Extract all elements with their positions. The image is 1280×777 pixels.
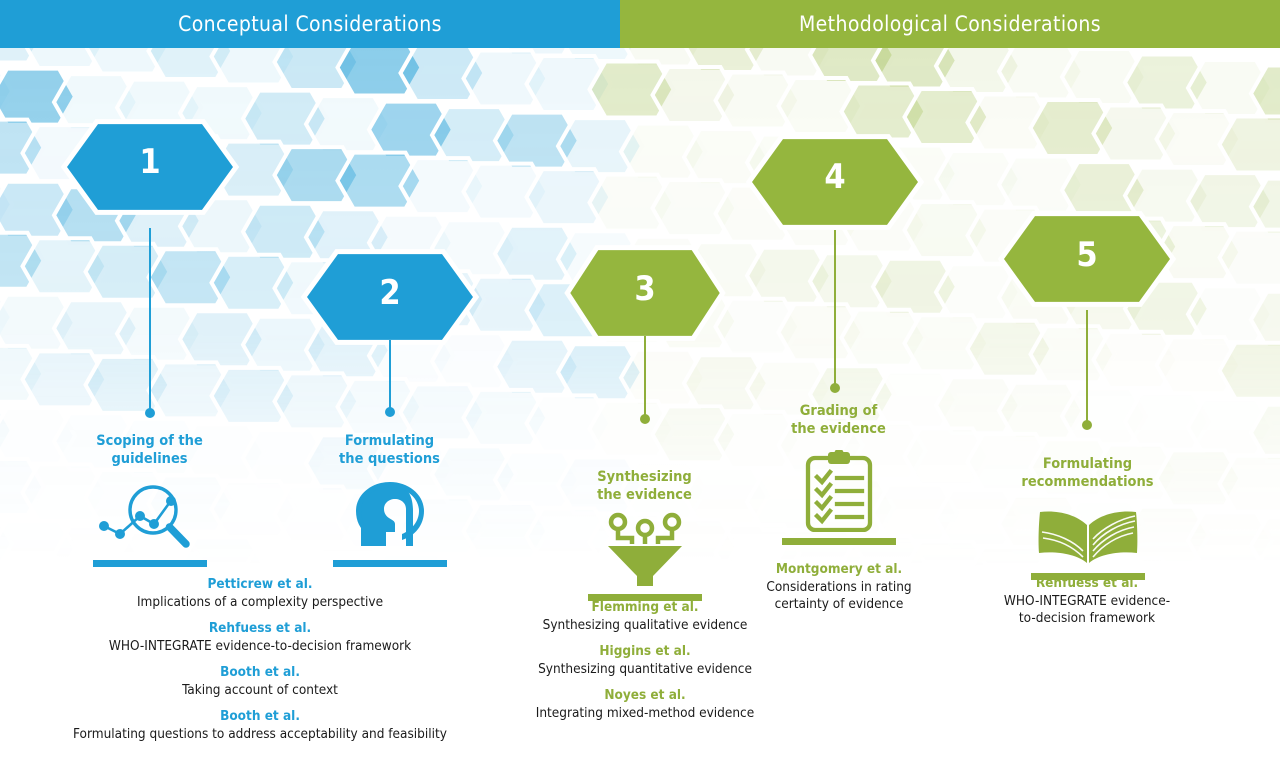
ref-title: Taking account of context xyxy=(0,682,520,700)
hexagon-step-4[interactable] xyxy=(749,137,921,228)
ref-author: Booth et al. xyxy=(0,664,520,682)
infographic-canvas: Conceptual Considerations Methodological… xyxy=(0,0,1280,777)
header-conceptual: Conceptual Considerations xyxy=(0,0,620,48)
ref-author: Rehfuess et al. xyxy=(0,620,520,638)
hexagon-step-3[interactable] xyxy=(567,248,722,339)
connector-stem-5 xyxy=(1086,310,1088,425)
ref-item: Rehfuess et al. WHO-INTEGRATE evidence- … xyxy=(988,575,1186,628)
connector-dot-3 xyxy=(640,414,650,424)
connector-stem-2 xyxy=(389,340,391,412)
ref-title: Considerations in rating certainty of ev… xyxy=(740,579,938,614)
step-recommendations-title: Formulating recommendations xyxy=(995,455,1180,491)
open-book-icon xyxy=(1033,509,1143,565)
ref-item: Booth et al. Formulating questions to ad… xyxy=(0,708,520,743)
hexagon-shape xyxy=(304,252,476,343)
step-recommendations-icon-wrap xyxy=(995,503,1180,565)
step-grading-rule xyxy=(782,538,896,545)
hexagon-shape xyxy=(749,137,921,228)
step-synthesizing-title: Synthesizing the evidence xyxy=(552,468,737,504)
step-synthesizing-icon-wrap xyxy=(552,512,737,588)
header-methodological-label: Methodological Considerations xyxy=(799,12,1101,36)
step-grading-icon-wrap xyxy=(746,448,931,532)
refs-grading: Montgomery et al. Considerations in rati… xyxy=(740,561,938,623)
ref-author: Rehfuess et al. xyxy=(988,575,1186,593)
hexagon-shape xyxy=(1001,214,1173,305)
connector-dot-1 xyxy=(145,408,155,418)
ref-author: Higgins et al. xyxy=(500,643,790,661)
ref-title: WHO-INTEGRATE evidence-to-decision frame… xyxy=(0,638,520,656)
header-conceptual-label: Conceptual Considerations xyxy=(178,12,442,36)
connector-dot-2 xyxy=(385,407,395,417)
refs-recommendations: Rehfuess et al. WHO-INTEGRATE evidence- … xyxy=(988,575,1186,637)
step-scoping-title: Scoping of the guidelines xyxy=(57,432,242,468)
ref-author: Noyes et al. xyxy=(500,687,790,705)
connector-stem-1 xyxy=(149,228,151,413)
step-grading: Grading of the evidence xyxy=(746,402,931,545)
connector-dot-4 xyxy=(830,383,840,393)
ref-title: Integrating mixed-method evidence xyxy=(500,705,790,723)
hexagon-step-1[interactable] xyxy=(64,122,236,213)
step-recommendations: Formulating recommendations xyxy=(995,455,1180,580)
connector-stem-3 xyxy=(644,336,646,418)
step-scoping-rule xyxy=(93,560,207,567)
step-synthesizing: Synthesizing the evidence xyxy=(552,468,737,601)
step-formulating-questions-icon-wrap xyxy=(297,478,482,550)
step-formulating-questions-title: Formulating the questions xyxy=(297,432,482,468)
ref-author: Booth et al. xyxy=(0,708,520,726)
step-formulating-questions-rule xyxy=(333,560,447,567)
head-question-icon xyxy=(346,480,434,550)
header-methodological: Methodological Considerations xyxy=(620,0,1280,48)
step-scoping-icon-wrap xyxy=(57,478,242,550)
hexagon-step-2[interactable] xyxy=(304,252,476,343)
honeycomb-cell xyxy=(1220,230,1280,286)
connector-dot-5 xyxy=(1082,420,1092,430)
step-scoping: Scoping of the guidelines xyxy=(57,432,242,567)
hexagon-shape xyxy=(567,248,722,339)
ref-author: Petticrew et al. xyxy=(0,576,520,594)
ref-author: Montgomery et al. xyxy=(740,561,938,579)
clipboard-checklist-icon xyxy=(804,450,874,532)
ref-item: Montgomery et al. Considerations in rati… xyxy=(740,561,938,614)
ref-title: Formulating questions to address accepta… xyxy=(0,726,520,744)
funnel-icon xyxy=(602,512,688,588)
step-formulating-questions: Formulating the questions xyxy=(297,432,482,567)
ref-item: Higgins et al. Synthesizing quantitative… xyxy=(500,643,790,678)
honeycomb-cell xyxy=(1220,117,1280,173)
ref-item: Booth et al. Taking account of context xyxy=(0,664,520,699)
hexagon-step-5[interactable] xyxy=(1001,214,1173,305)
ref-item: Noyes et al. Integrating mixed-method ev… xyxy=(500,687,790,722)
header-bar: Conceptual Considerations Methodological… xyxy=(0,0,1280,48)
ref-title: Implications of a complexity perspective xyxy=(0,594,520,612)
ref-title: WHO-INTEGRATE evidence- to-decision fram… xyxy=(988,593,1186,628)
ref-item: Rehfuess et al. WHO-INTEGRATE evidence-t… xyxy=(0,620,520,655)
honeycomb-cell xyxy=(1220,343,1280,399)
honeycomb-cell xyxy=(1220,456,1280,512)
ref-title: Synthesizing quantitative evidence xyxy=(500,661,790,679)
refs-scoping: Petticrew et al. Implications of a compl… xyxy=(0,576,520,752)
ref-item: Petticrew et al. Implications of a compl… xyxy=(0,576,520,611)
magnifier-chart-icon xyxy=(96,484,204,550)
hexagon-shape xyxy=(64,122,236,213)
connector-stem-4 xyxy=(834,230,836,388)
step-grading-title: Grading of the evidence xyxy=(746,402,931,438)
